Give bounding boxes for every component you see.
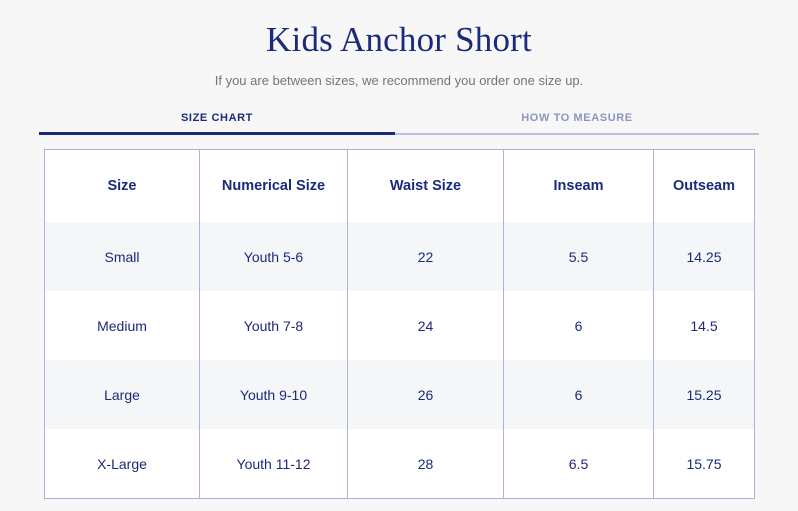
column-header-outseam: Outseam — [654, 150, 755, 223]
cell-inseam: 6.5 — [504, 429, 654, 499]
cell-size: Large — [45, 360, 200, 429]
size-chart-page: Kids Anchor Short If you are between siz… — [0, 0, 798, 511]
cell-numerical-size: Youth 9-10 — [200, 360, 348, 429]
tab-how-to-measure[interactable]: HOW TO MEASURE — [395, 112, 759, 135]
cell-size: Small — [45, 222, 200, 291]
tab-size-chart[interactable]: SIZE CHART — [39, 112, 395, 135]
page-title: Kids Anchor Short — [0, 18, 798, 62]
page-header: Kids Anchor Short If you are between siz… — [0, 0, 798, 90]
size-chart-table: Size Numerical Size Waist Size Inseam Ou… — [44, 149, 755, 499]
table-row: Medium Youth 7-8 24 6 14.5 — [45, 291, 755, 360]
cell-outseam: 15.75 — [654, 429, 755, 499]
table-row: Small Youth 5-6 22 5.5 14.25 — [45, 222, 755, 291]
cell-inseam: 6 — [504, 360, 654, 429]
cell-waist-size: 22 — [348, 222, 504, 291]
cell-size: Medium — [45, 291, 200, 360]
table-row: Large Youth 9-10 26 6 15.25 — [45, 360, 755, 429]
table-header-row: Size Numerical Size Waist Size Inseam Ou… — [45, 150, 755, 223]
tab-bar: SIZE CHART HOW TO MEASURE — [39, 112, 759, 135]
column-header-numerical-size: Numerical Size — [200, 150, 348, 223]
cell-waist-size: 28 — [348, 429, 504, 499]
size-chart-table-wrapper: Size Numerical Size Waist Size Inseam Ou… — [44, 149, 754, 499]
column-header-inseam: Inseam — [504, 150, 654, 223]
cell-numerical-size: Youth 5-6 — [200, 222, 348, 291]
page-subtitle: If you are between sizes, we recommend y… — [0, 72, 798, 90]
cell-size: X-Large — [45, 429, 200, 499]
cell-numerical-size: Youth 11-12 — [200, 429, 348, 499]
column-header-waist-size: Waist Size — [348, 150, 504, 223]
cell-inseam: 6 — [504, 291, 654, 360]
cell-outseam: 15.25 — [654, 360, 755, 429]
cell-waist-size: 24 — [348, 291, 504, 360]
cell-outseam: 14.5 — [654, 291, 755, 360]
table-body: Small Youth 5-6 22 5.5 14.25 Medium Yout… — [45, 222, 755, 499]
cell-inseam: 5.5 — [504, 222, 654, 291]
column-header-size: Size — [45, 150, 200, 223]
table-row: X-Large Youth 11-12 28 6.5 15.75 — [45, 429, 755, 499]
cell-outseam: 14.25 — [654, 222, 755, 291]
table-header: Size Numerical Size Waist Size Inseam Ou… — [45, 150, 755, 223]
cell-numerical-size: Youth 7-8 — [200, 291, 348, 360]
cell-waist-size: 26 — [348, 360, 504, 429]
